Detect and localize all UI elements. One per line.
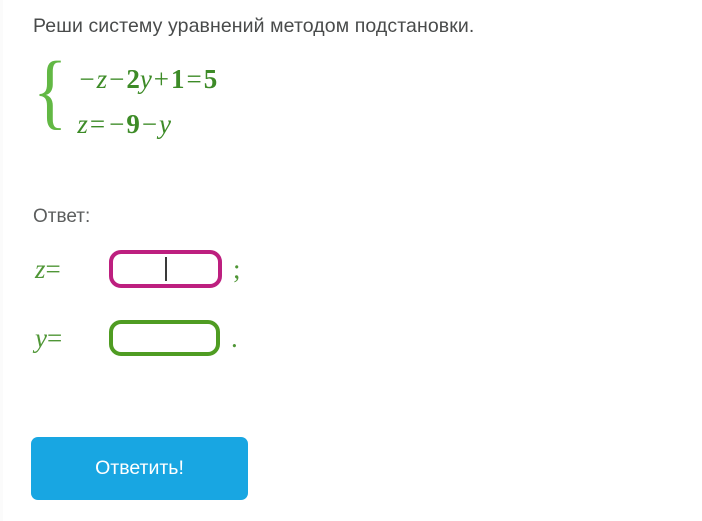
submit-answer-button[interactable]: Ответить! [31, 437, 248, 500]
equals-sign: = [88, 109, 107, 139]
minus-sign: − [140, 109, 159, 139]
equation-line-2: z=−9−y [77, 102, 217, 147]
variable-y: y [140, 64, 152, 94]
curly-brace-icon: { [33, 61, 67, 147]
answer-label: Ответ: [33, 206, 90, 228]
equation-system: { −z−2y+1=5 z=−9−y [33, 55, 217, 147]
equals-sign: = [47, 323, 62, 353]
answer-row-z: z= ; [35, 247, 241, 291]
equation-list: −z−2y+1=5 z=−9−y [77, 55, 217, 147]
variable-z: z [97, 64, 108, 94]
answer-input-z[interactable] [109, 250, 222, 288]
variable-z: z [35, 254, 46, 284]
coefficient-2: 2 [126, 64, 140, 94]
variable-y: y [159, 109, 171, 139]
constant-5: 5 [204, 64, 218, 94]
answer-variable-y-label: y= [35, 323, 109, 354]
answer-input-y[interactable] [109, 320, 220, 356]
semicolon-separator: ; [233, 250, 241, 288]
minus-sign: − [107, 64, 126, 94]
constant-9: 9 [126, 109, 140, 139]
period-separator: . [231, 319, 238, 357]
equals-sign: = [185, 64, 204, 94]
equation-line-1: −z−2y+1=5 [77, 57, 217, 102]
variable-z: z [77, 109, 88, 139]
exercise-page: Реши систему уравнений методом подстанов… [0, 0, 702, 521]
answer-variable-z-label: z= [35, 254, 109, 285]
equals-sign: = [46, 254, 61, 284]
answer-row-y: y= . [35, 316, 238, 360]
constant-1: 1 [171, 64, 185, 94]
text-caret [165, 257, 167, 281]
minus-sign: − [107, 109, 126, 139]
minus-sign: − [77, 64, 96, 94]
plus-sign: + [152, 64, 171, 94]
variable-y: y [35, 323, 47, 353]
page-title: Реши систему уравнений методом подстанов… [33, 14, 474, 38]
